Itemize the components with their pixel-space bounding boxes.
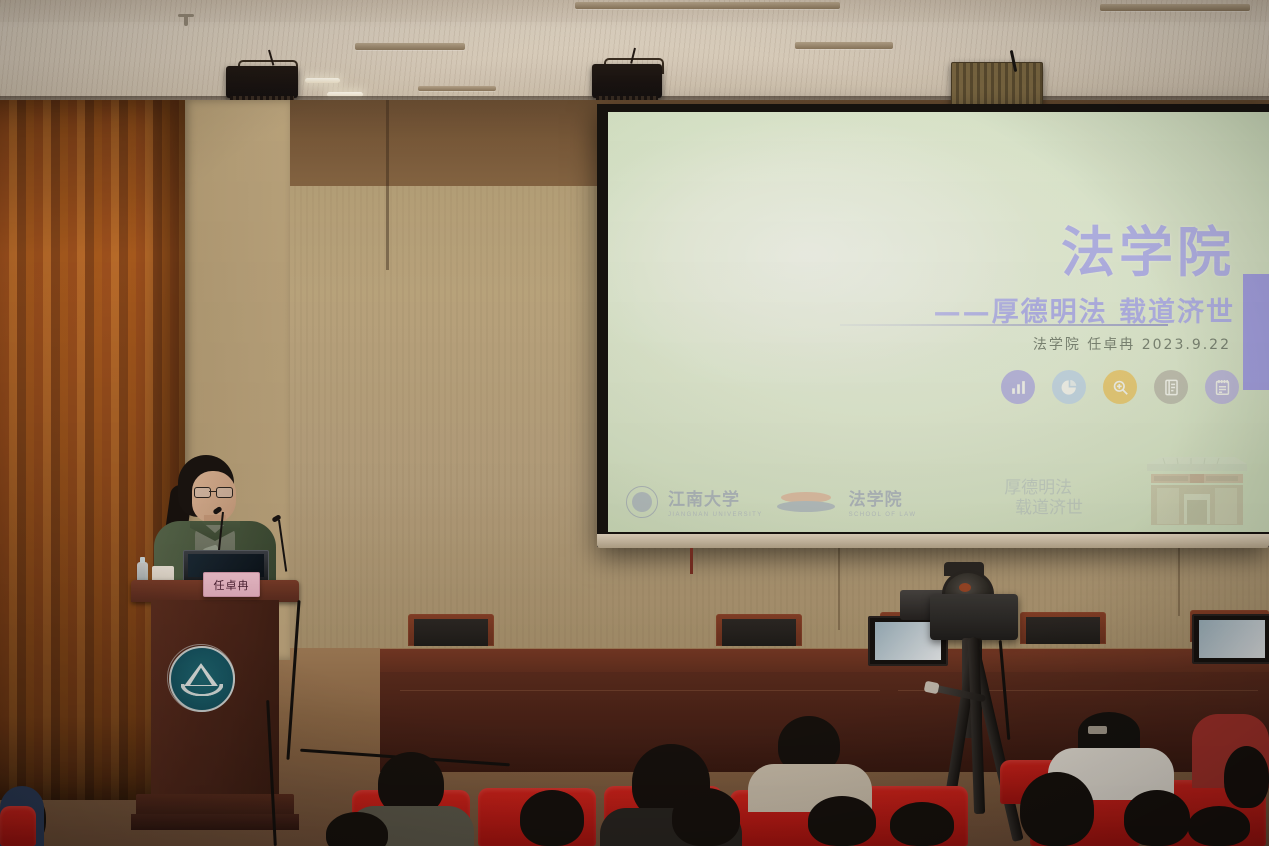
slide-divider	[840, 324, 1168, 326]
school-name-en: SCHOOL OF LAW	[849, 512, 917, 518]
panel-monitor	[1192, 614, 1269, 664]
pie-chart-icon	[1052, 370, 1086, 404]
ceiling-slot	[355, 43, 465, 50]
audience-head	[808, 796, 876, 846]
name-plate: 任卓冉	[203, 572, 260, 597]
ceiling-speaker	[226, 66, 298, 98]
ceiling-slot	[418, 86, 496, 91]
checklist-icon	[1205, 370, 1239, 404]
magnifier-icon	[1103, 370, 1137, 404]
audience-head	[520, 790, 584, 846]
school-logo-text: 法学院 SCHOOL OF LAW	[849, 485, 917, 518]
auditorium-photo: EPSON 法学院 ——厚德明法 载道济世 法学院 任卓冉 2023.9.22	[0, 0, 1269, 846]
auditorium-seat	[0, 806, 36, 846]
panel-chair	[408, 614, 494, 646]
ceiling-slot	[795, 42, 893, 49]
presenter-glasses	[194, 487, 234, 496]
wall-joint	[386, 100, 389, 270]
emblem-outer-ring	[167, 644, 235, 712]
slide-accent-block	[1243, 274, 1269, 390]
ceiling-speaker	[592, 64, 662, 98]
bar-chart-icon	[1001, 370, 1035, 404]
panel-chair	[716, 614, 802, 646]
notebook-icon	[1154, 370, 1188, 404]
sprinkler-head	[178, 14, 194, 17]
screen-bottom-rail	[597, 534, 1269, 548]
audience-head	[890, 802, 954, 846]
screen-cord	[690, 548, 693, 574]
monitor-screen	[1199, 620, 1265, 658]
university-name-cn: 江南大学	[668, 485, 763, 510]
mark-bottom-shape	[777, 501, 835, 512]
slide-icon-row	[1001, 370, 1239, 404]
campus-gate-illustration	[1143, 454, 1251, 528]
audience-head	[1020, 772, 1094, 846]
audience-head	[1124, 790, 1190, 846]
video-camera	[930, 594, 1018, 640]
university-seal-icon	[626, 486, 658, 518]
slide-meta-line: 法学院 任卓冉 2023.9.22	[1033, 334, 1231, 354]
audience-head	[672, 788, 740, 846]
name-plate-text: 任卓冉	[214, 577, 250, 593]
ceiling-light	[305, 78, 340, 83]
slide-calligraphy-watermark: 厚德明法 载道济世	[1004, 478, 1083, 518]
university-name-en: JIANGNAN UNIVERSITY	[668, 512, 763, 518]
ceiling-slot	[1100, 4, 1250, 11]
audience-head	[1188, 806, 1250, 846]
desk-panel-line	[400, 690, 880, 691]
projection-screen: 法学院 ——厚德明法 载道济世 法学院 任卓冉 2023.9.22	[608, 112, 1269, 532]
school-of-law-mark-icon	[777, 492, 835, 512]
slide-logo-group: 江南大学 JIANGNAN UNIVERSITY 法学院 SCHOOL OF L…	[626, 485, 916, 518]
university-logo-text: 江南大学 JIANGNAN UNIVERSITY	[668, 485, 763, 518]
school-name-cn: 法学院	[849, 485, 917, 510]
ceiling-slot	[575, 2, 840, 9]
panel-chair	[1020, 612, 1106, 644]
slide-title: 法学院	[1061, 208, 1235, 287]
audience-head	[1224, 746, 1269, 808]
